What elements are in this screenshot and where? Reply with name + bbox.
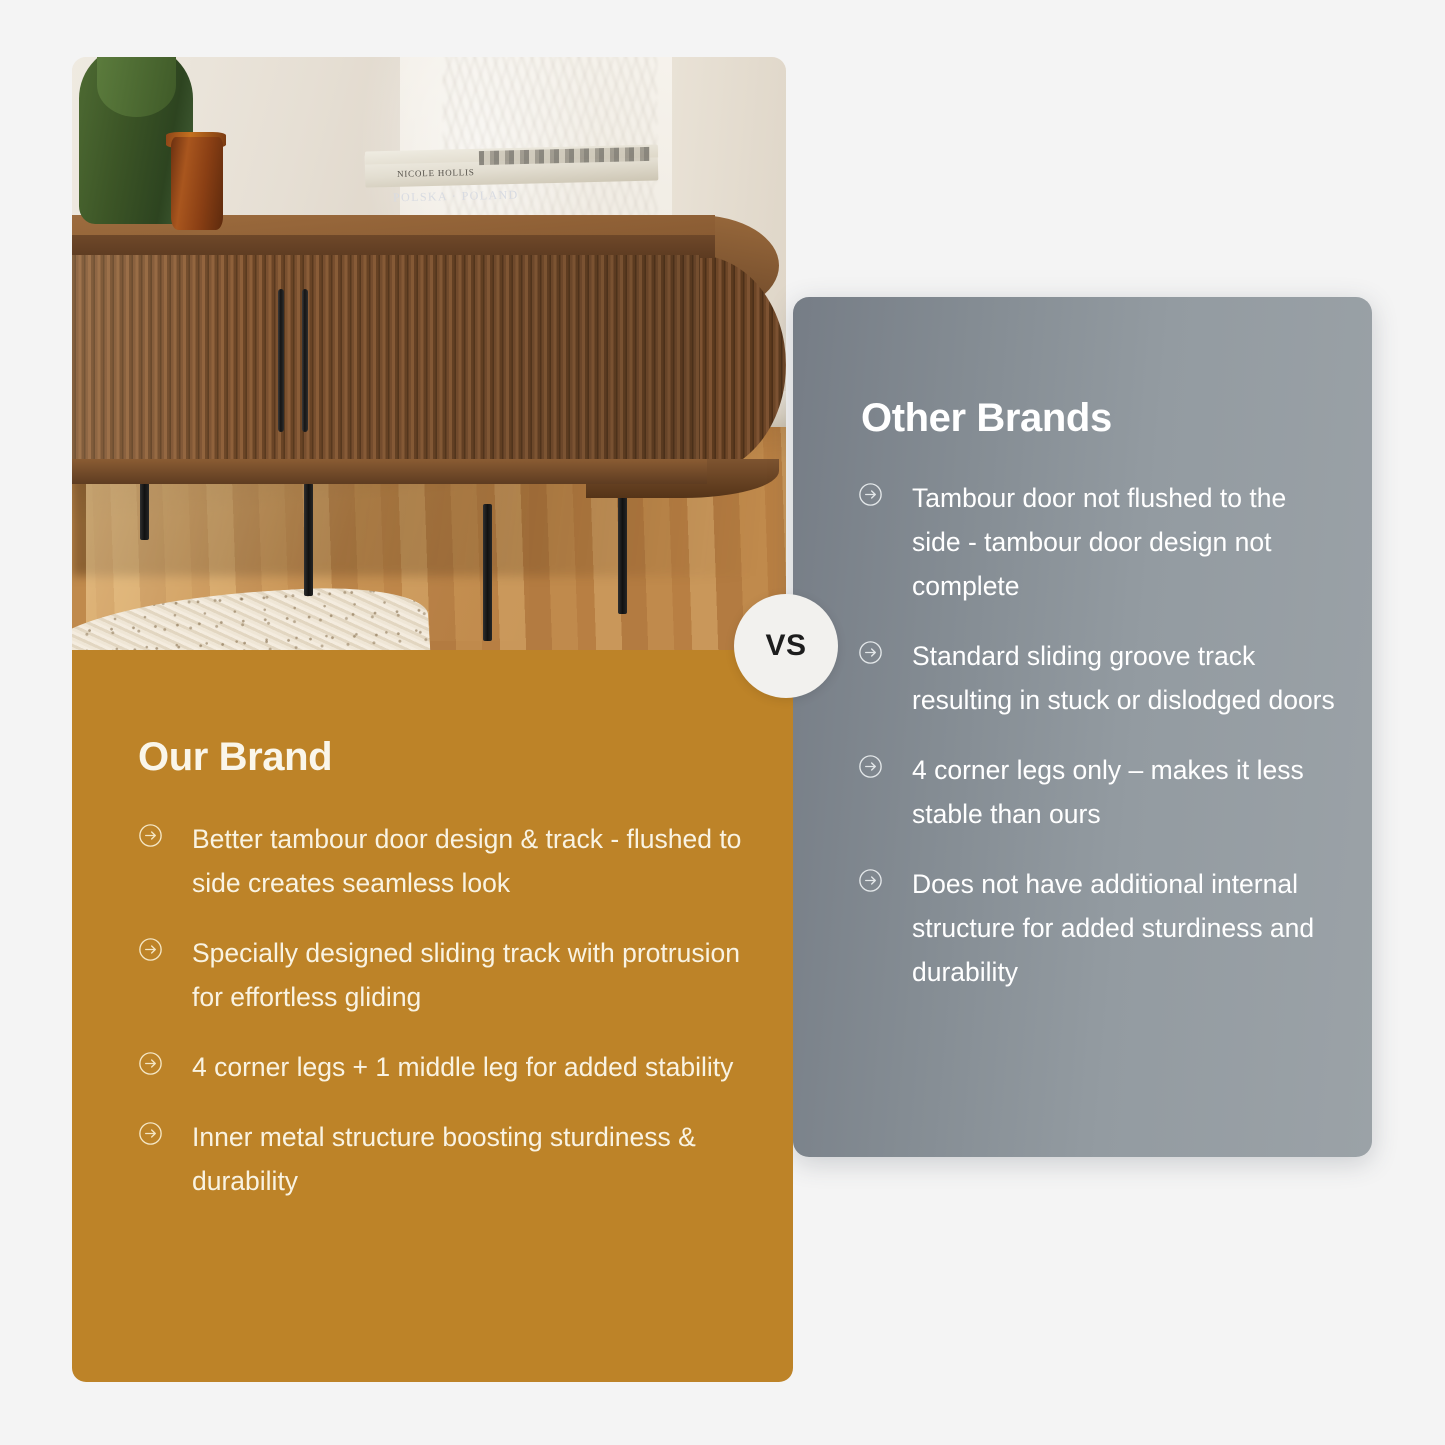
arrow-right-circle-icon	[138, 1121, 163, 1146]
list-item: Specially designed sliding track with pr…	[138, 931, 748, 1019]
tambour-door-shading	[72, 255, 700, 464]
comparison-infographic: NICOLE HOLLIS POLSKA · POLAND Our Brand …	[0, 0, 1445, 1445]
list-item: Does not have additional internal struct…	[858, 862, 1338, 994]
other-brands-heading: Other Brands	[861, 396, 1112, 441]
arrow-right-circle-icon	[858, 482, 883, 507]
vs-badge: VS	[734, 594, 838, 698]
list-item-text: Specially designed sliding track with pr…	[192, 931, 748, 1019]
product-photo: NICOLE HOLLIS POLSKA · POLAND	[72, 57, 786, 653]
list-item-text: 4 corner legs only – makes it less stabl…	[912, 748, 1338, 836]
arrow-right-circle-icon	[138, 937, 163, 962]
list-item: Standard sliding groove track resulting …	[858, 634, 1338, 722]
our-brand-heading: Our Brand	[138, 735, 332, 780]
arrow-right-circle-icon	[138, 823, 163, 848]
arrow-right-circle-icon	[858, 868, 883, 893]
other-brands-feature-list: Tambour door not flushed to the side - t…	[858, 476, 1338, 1020]
sideboard-leg	[483, 504, 492, 641]
amber-jar	[171, 137, 223, 229]
book-title-top: NICOLE HOLLIS	[397, 167, 475, 179]
list-item: 4 corner legs + 1 middle leg for added s…	[138, 1045, 748, 1089]
our-brand-feature-list: Better tambour door design & track - flu…	[138, 817, 748, 1229]
sideboard-base	[72, 459, 707, 484]
list-item-text: Standard sliding groove track resulting …	[912, 634, 1338, 722]
door-handle	[278, 289, 284, 432]
arrow-right-circle-icon	[858, 754, 883, 779]
sideboard-leg	[618, 495, 627, 614]
door-handle	[302, 289, 308, 432]
list-item-text: Better tambour door design & track - flu…	[192, 817, 748, 905]
list-item: 4 corner legs only – makes it less stabl…	[858, 748, 1338, 836]
list-item-text: Does not have additional internal struct…	[912, 862, 1338, 994]
list-item-text: 4 corner legs + 1 middle leg for added s…	[192, 1045, 733, 1089]
list-item: Inner metal structure boosting sturdines…	[138, 1115, 748, 1203]
sideboard-leg	[304, 483, 313, 596]
list-item: Tambour door not flushed to the side - t…	[858, 476, 1338, 608]
list-item: Better tambour door design & track - flu…	[138, 817, 748, 905]
green-vase-neck	[97, 57, 176, 117]
list-item-text: Inner metal structure boosting sturdines…	[192, 1115, 748, 1203]
book-title-bottom: POLSKA · POLAND	[393, 187, 519, 205]
vs-label: VS	[765, 629, 806, 663]
list-item-text: Tambour door not flushed to the side - t…	[912, 476, 1338, 608]
arrow-right-circle-icon	[138, 1051, 163, 1076]
arrow-right-circle-icon	[858, 640, 883, 665]
